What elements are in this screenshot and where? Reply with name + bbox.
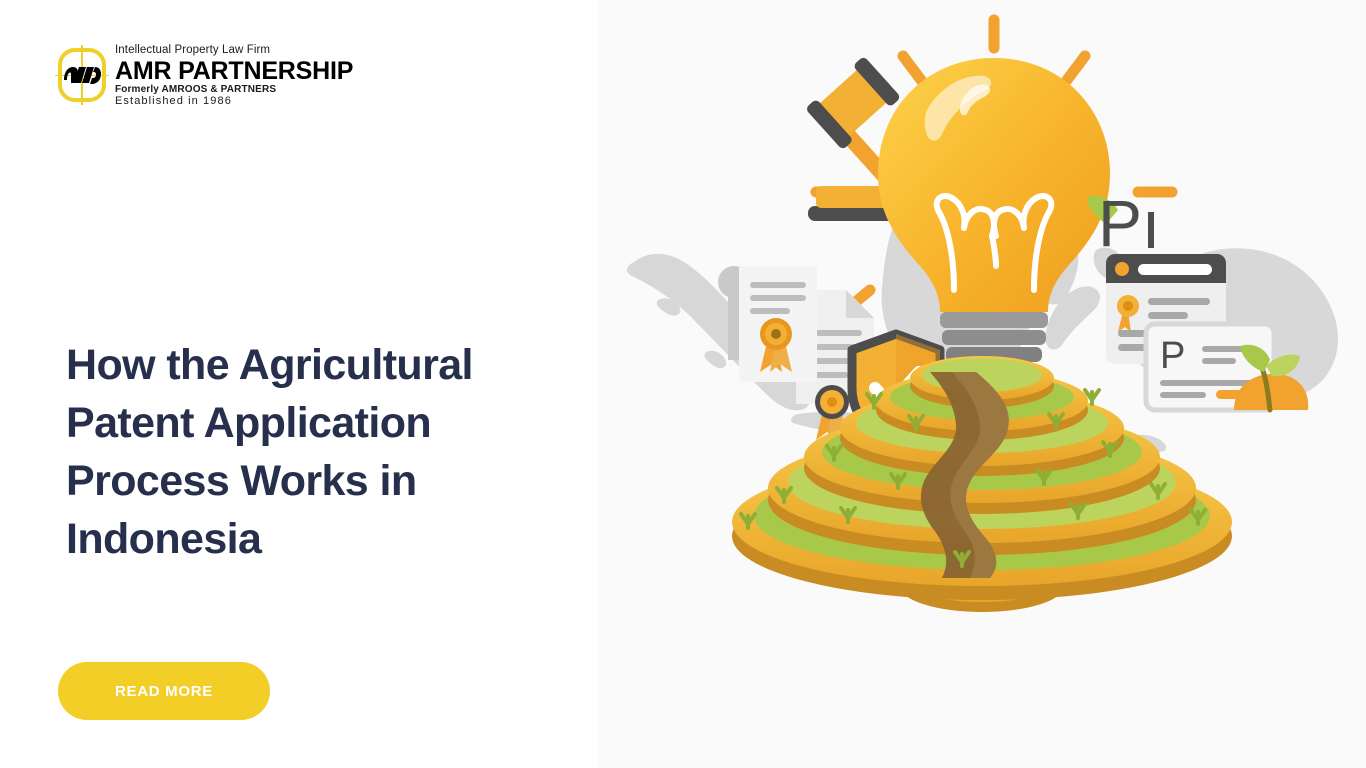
hero-illustration: P: [598, 0, 1366, 768]
logo-tagline: Intellectual Property Law Firm: [115, 45, 353, 57]
hero-banner: Intellectual Property Law Firm AMR PARTN…: [0, 0, 1366, 768]
logo-firm-name: AMR PARTNERSHIP: [115, 58, 353, 84]
read-more-button[interactable]: READ MORE: [58, 662, 270, 720]
page-title: How the Agricultural Patent Application …: [66, 336, 566, 568]
certificate-icon: [718, 266, 817, 382]
logo-formerly: Formerly AMROOS & PARTNERS: [115, 85, 353, 95]
logo-wordmark: Intellectual Property Law Firm AMR PARTN…: [115, 44, 353, 107]
logo-established: Established in 1986: [115, 96, 353, 107]
company-logo[interactable]: Intellectual Property Law Firm AMR PARTN…: [58, 44, 353, 107]
svg-text:P: P: [1160, 335, 1185, 377]
amr-monogram-icon: [58, 48, 106, 102]
svg-text:P: P: [1098, 186, 1142, 260]
